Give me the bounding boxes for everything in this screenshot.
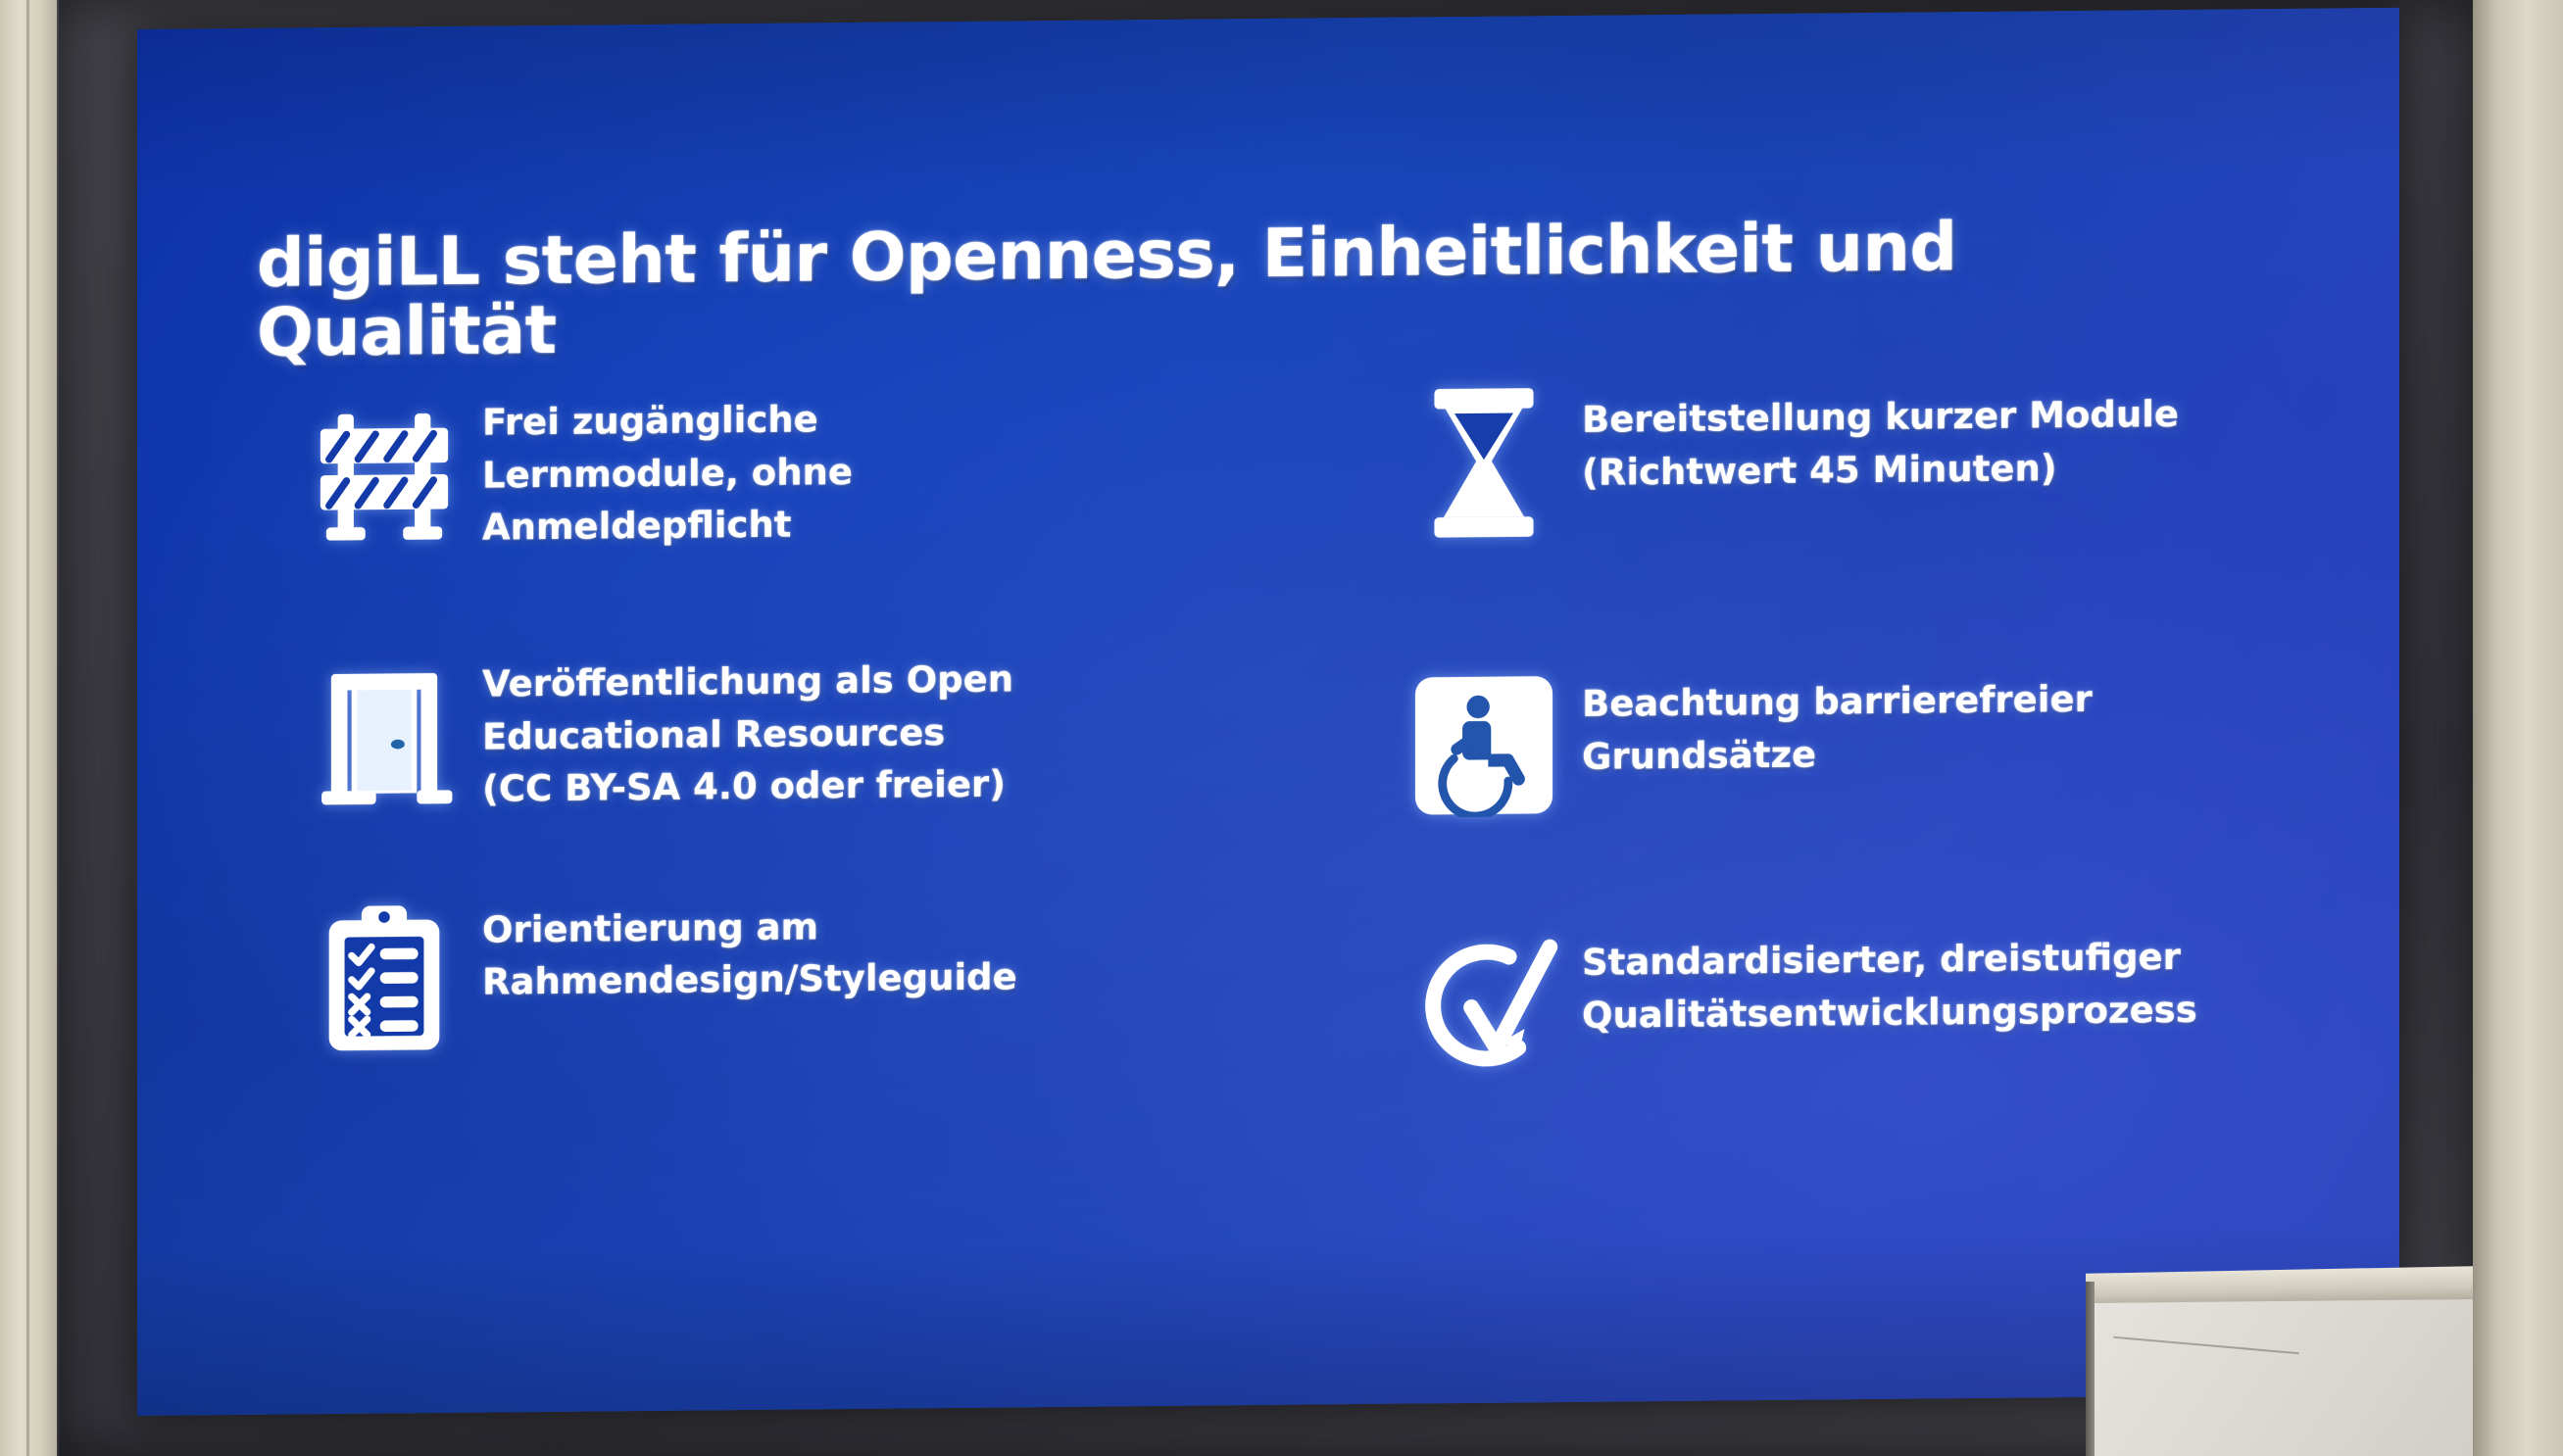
clipboard-checklist-icon — [286, 896, 482, 1062]
feature-item-accessibility: Beachtung barrierefreier Grundsätze — [1386, 655, 2399, 829]
barrier-icon — [286, 389, 482, 556]
feature-item-styleguide: Orientierung am Rahmendesign/Styleguide — [286, 889, 1268, 1063]
feature-columns: Frei zugängliche Lernmodule, ohne Anmeld… — [137, 370, 2399, 1197]
wheelchair-accessibility-icon — [1386, 662, 1582, 829]
feature-label: Beachtung barrierefreier Grundsätze — [1582, 657, 2093, 783]
projector-screen-scene: digiLL steht für Openness, Einheitlichke… — [0, 0, 2563, 1456]
wall-strip-left — [0, 0, 57, 1456]
feature-label: Standardisierter, dreistufiger Qualitäts… — [1582, 915, 2197, 1042]
feature-label: Bereitstellung kurzer Module (Richtwert … — [1582, 372, 2179, 499]
presentation-slide: digiLL steht für Openness, Einheitlichke… — [137, 8, 2399, 1416]
slide-content: digiLL steht für Openness, Einheitlichke… — [137, 8, 2399, 1416]
flipchart-board — [2086, 1260, 2473, 1456]
feature-item-open-access: Frei zugängliche Lernmodule, ohne Anmeld… — [286, 381, 1268, 557]
feature-item-oer-license: Veröffentlichung als Open Educational Re… — [286, 643, 1268, 818]
hourglass-icon — [1386, 378, 1582, 545]
feature-column-right: Bereitstellung kurzer Module (Richtwert … — [1268, 370, 2399, 1187]
wall-strip-right — [2473, 0, 2563, 1456]
feature-item-module-duration: Bereitstellung kurzer Module (Richtwert … — [1386, 370, 2399, 545]
feature-label: Veröffentlichung als Open Educational Re… — [482, 645, 1013, 815]
flipchart-surface — [2090, 1299, 2473, 1456]
flipchart-edge — [2086, 1282, 2095, 1456]
circular-arrow-check-icon — [1386, 921, 1582, 1088]
feature-item-quality-process: Standardisierter, dreistufiger Qualitäts… — [1386, 913, 2399, 1088]
feature-label: Orientierung am Rahmendesign/Styleguide — [482, 891, 1017, 1009]
page-title: digiLL steht für Openness, Einheitlichke… — [257, 210, 2276, 369]
feature-column-left: Frei zugängliche Lernmodule, ohne Anmeld… — [137, 381, 1268, 1197]
feature-label: Frei zugängliche Lernmodule, ohne Anmeld… — [482, 385, 853, 555]
open-door-icon — [286, 651, 482, 817]
